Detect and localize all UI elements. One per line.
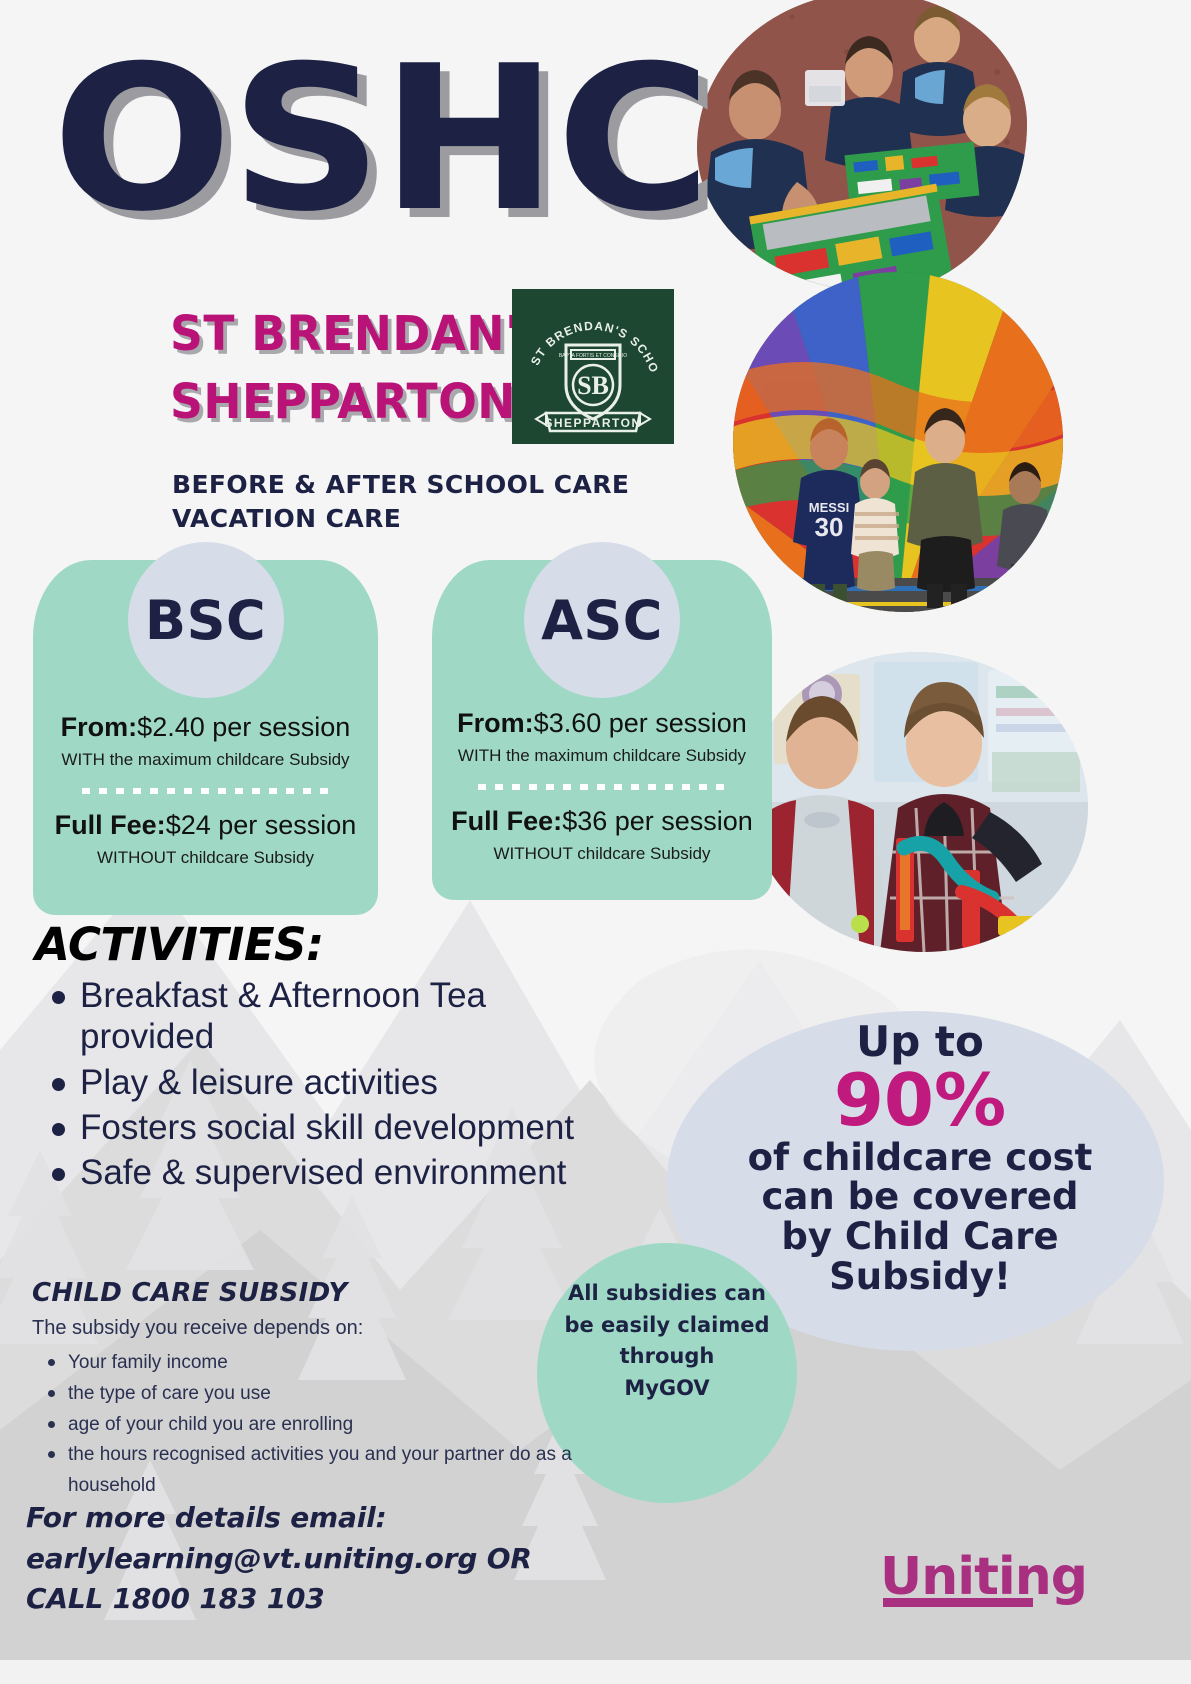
bsc-from-note: WITH the maximum childcare Subsidy (33, 750, 378, 770)
svg-text:SHEPPARTON: SHEPPARTON (544, 416, 641, 430)
list-item: age of your child you are enrolling (68, 1410, 628, 1441)
contact-details: For more details email: earlylearning@vt… (26, 1498, 846, 1620)
contact-phone-line[interactable]: CALL 1800 183 103 (26, 1579, 846, 1620)
bsc-from-value: $2.40 per session (137, 712, 350, 742)
list-item: the type of care you use (68, 1379, 628, 1410)
subsidy-rest-line1: of childcare cost (660, 1138, 1180, 1178)
activities-heading: ACTIVITIES: (35, 918, 324, 971)
svg-text:BAPTA FORTIS ET CONSILIO: BAPTA FORTIS ET CONSILIO (559, 353, 627, 359)
list-item: Safe & supervised environment (80, 1152, 625, 1193)
list-item: Your family income (68, 1348, 628, 1379)
list-item: the hours recognised activities you and … (68, 1440, 628, 1502)
price-card-asc: ASC From:$3.60 per session WITH the maxi… (432, 560, 772, 900)
svg-text:SB: SB (577, 371, 609, 400)
mygov-line2: be easily claimed (547, 1310, 787, 1342)
school-name-line2: SHEPPARTON (170, 368, 553, 436)
school-crest-logo: ST BRENDAN'S SCHOOL BAPTA FORTIS ET CONS… (512, 289, 674, 444)
asc-from-value: $3.60 per session (534, 708, 747, 738)
uniting-logo: Uniting (880, 1547, 1087, 1607)
asc-full-price: Full Fee:$36 per session (432, 806, 772, 837)
poster-root: MESSI 30 (0, 0, 1191, 1684)
svg-text:30: 30 (815, 512, 844, 542)
contact-email-line[interactable]: For more details email: earlylearning@vt… (26, 1498, 846, 1579)
badge-bsc: BSC (128, 542, 284, 698)
child-care-subsidy-intro: The subsidy you receive depends on: (32, 1317, 363, 1340)
activities-list: Breakfast & Afternoon Tea provided Play … (38, 975, 625, 1197)
mygov-line4: MyGOV (547, 1373, 787, 1405)
asc-from-note: WITH the maximum childcare Subsidy (432, 746, 772, 766)
bsc-full-label: Full Fee: (55, 810, 166, 840)
bsc-from-price: From:$2.40 per session (33, 712, 378, 743)
asc-full-value: $36 per session (562, 806, 753, 836)
bsc-full-note: WITHOUT childcare Subsidy (33, 848, 378, 868)
mygov-line3: through (547, 1341, 787, 1373)
subsidy-highlight-text: Up to 90% of childcare cost can be cover… (660, 1020, 1180, 1297)
care-types: BEFORE & AFTER SCHOOL CARE VACATION CARE (172, 468, 629, 536)
card-divider-dots (478, 784, 726, 790)
child-care-subsidy-list: Your family income the type of care you … (36, 1348, 628, 1502)
list-item: Breakfast & Afternoon Tea provided (80, 975, 625, 1058)
photo-children-rainbow-parachute: MESSI 30 (733, 272, 1063, 612)
uniting-logo-text: Uniting (880, 1547, 1087, 1607)
badge-asc: ASC (524, 542, 680, 698)
asc-full-note: WITHOUT childcare Subsidy (432, 844, 772, 864)
bsc-full-value: $24 per session (166, 810, 357, 840)
bsc-from-label: From: (61, 712, 138, 742)
care-type-line1: BEFORE & AFTER SCHOOL CARE (172, 468, 629, 502)
photo-children-building-lego (697, 0, 1027, 292)
photo-children-marble-run (748, 652, 1088, 952)
price-card-bsc: BSC From:$2.40 per session WITH the maxi… (33, 560, 378, 915)
list-item: Play & leisure activities (80, 1062, 625, 1103)
subsidy-rest-line2: can be covered (660, 1177, 1180, 1217)
school-name: ST BRENDAN'S SHEPPARTON (170, 300, 553, 436)
subsidy-percent: 90% (660, 1064, 1180, 1137)
page-title: OSHC (52, 48, 709, 232)
asc-from-price: From:$3.60 per session (432, 708, 772, 739)
child-care-subsidy-heading: CHILD CARE SUBSIDY (32, 1278, 348, 1308)
bsc-full-price: Full Fee:$24 per session (33, 810, 378, 841)
school-name-line1: ST BRENDAN'S (170, 300, 553, 368)
mygov-text: All subsidies can be easily claimed thro… (547, 1278, 787, 1404)
card-divider-dots (82, 788, 330, 794)
mygov-line1: All subsidies can (547, 1278, 787, 1310)
care-type-line2: VACATION CARE (172, 502, 629, 536)
list-item: Fosters social skill development (80, 1107, 625, 1148)
asc-from-label: From: (457, 708, 534, 738)
asc-full-label: Full Fee: (451, 806, 562, 836)
subsidy-rest-line3: by Child Care (660, 1217, 1180, 1257)
